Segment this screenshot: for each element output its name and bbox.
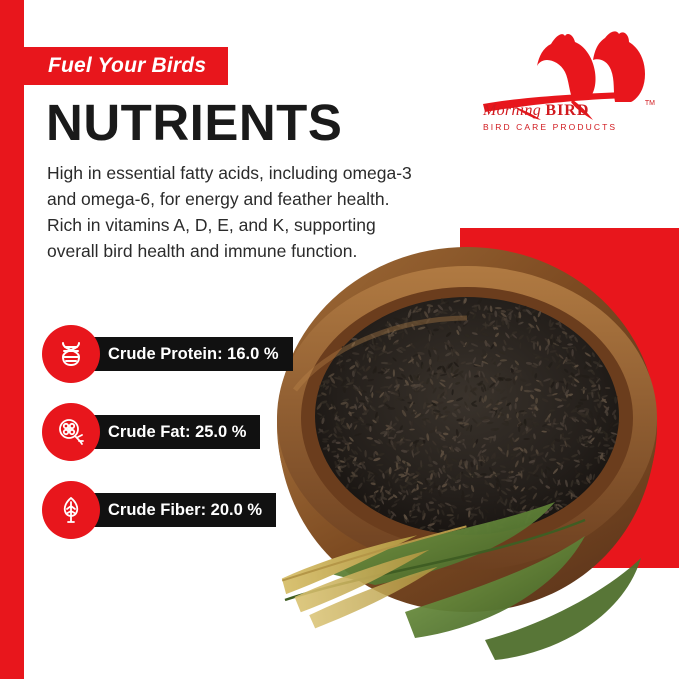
- fat-molecule-icon: [42, 403, 100, 461]
- left-red-bar: [0, 0, 24, 679]
- header-pill-label: Fuel Your Birds: [48, 54, 206, 78]
- nutrient-row-fiber: Crude Fiber: 20.0 %: [42, 481, 293, 539]
- nutrient-label-protein: Crude Protein: 16.0 %: [78, 337, 293, 371]
- page-title: NUTRIENTS: [46, 93, 342, 152]
- nutrient-label-fiber: Crude Fiber: 20.0 %: [78, 493, 276, 527]
- nutrient-row-protein: Crude Protein: 16.0 %: [42, 325, 293, 383]
- description-text: High in essential fatty acids, including…: [47, 160, 422, 264]
- header-pill: Fuel Your Birds: [24, 47, 228, 85]
- fiber-tree-icon: [42, 481, 100, 539]
- dna-icon: [42, 325, 100, 383]
- logo-trademark: TM: [645, 100, 655, 107]
- nutrient-row-fat: Crude Fat: 25.0 %: [42, 403, 293, 461]
- nutrient-list: Crude Protein: 16.0 % Crude Fat: 25.0 %: [42, 325, 293, 559]
- brand-logo: Morning BIRD BIRD CARE PRODUCTS TM: [477, 30, 657, 140]
- logo-text-block: Morning BIRD BIRD CARE PRODUCTS: [483, 102, 633, 132]
- logo-brand-name: Morning BIRD: [483, 102, 633, 120]
- nutrition-infographic: Fuel Your Birds NUTRIENTS High in essent…: [0, 0, 679, 679]
- nutrient-label-fat: Crude Fat: 25.0 %: [78, 415, 260, 449]
- seed-bowl-image: [255, 240, 679, 679]
- logo-tagline: BIRD CARE PRODUCTS: [483, 122, 633, 132]
